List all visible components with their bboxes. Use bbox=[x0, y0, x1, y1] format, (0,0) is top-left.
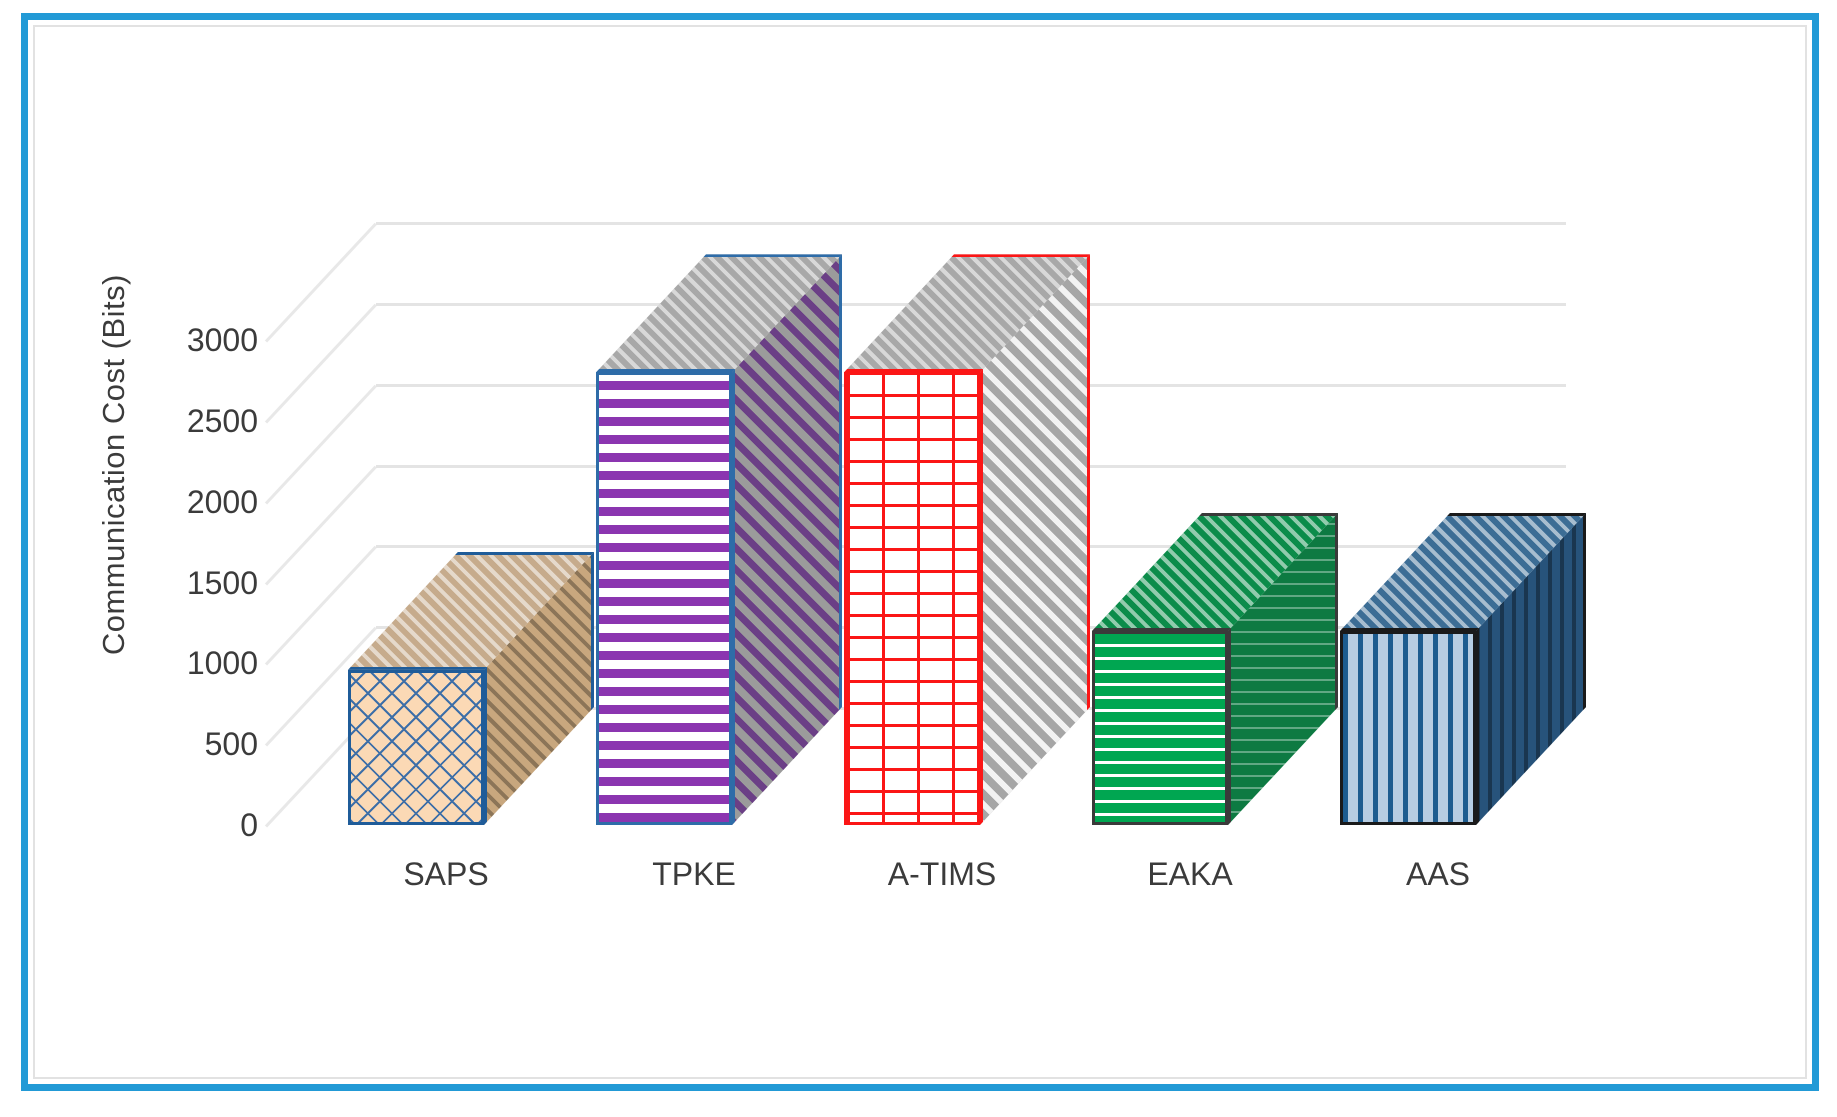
bar-a-tims[interactable] bbox=[844, 372, 980, 825]
y-axis-tick-label: 2000 bbox=[138, 486, 258, 518]
y-axis-title-text: Communication Cost (Bits) bbox=[96, 274, 132, 655]
figure-border-frame: Communication Cost (Bits) 05001000150020… bbox=[21, 13, 1819, 1091]
y-axis-tick-label: 2500 bbox=[138, 405, 258, 437]
bar-eaka[interactable] bbox=[1092, 631, 1228, 825]
bar-front-face bbox=[1340, 631, 1476, 825]
y-axis-tick-label: 0 bbox=[138, 809, 258, 841]
y-axis-tick-label: 1500 bbox=[138, 567, 258, 599]
x-axis-label-tpke: TPKE bbox=[652, 856, 736, 893]
bar-aas[interactable] bbox=[1340, 631, 1476, 825]
y-axis-tick-label: 500 bbox=[138, 728, 258, 760]
y-axis-tick-labels: 050010001500200025003000 bbox=[138, 20, 258, 1098]
bar-series bbox=[266, 170, 1566, 850]
y-axis-tick-label: 3000 bbox=[138, 324, 258, 356]
bar-front-face bbox=[844, 372, 980, 825]
x-axis-label-a-tims: A-TIMS bbox=[888, 856, 996, 893]
x-axis-category-labels: SAPSTPKEA-TIMSEAKAAAS bbox=[266, 856, 1566, 906]
bar-front-face bbox=[348, 670, 484, 825]
bar-chart: Communication Cost (Bits) 05001000150020… bbox=[28, 20, 1826, 1098]
y-axis-tick-label: 1000 bbox=[138, 647, 258, 679]
bar-tpke[interactable] bbox=[596, 372, 732, 825]
x-axis-label-eaka: EAKA bbox=[1147, 856, 1232, 893]
bar-front-face bbox=[1092, 631, 1228, 825]
plot-area bbox=[266, 170, 1566, 850]
x-axis-label-saps: SAPS bbox=[403, 856, 488, 893]
bar-saps[interactable] bbox=[348, 670, 484, 825]
bar-front-face bbox=[596, 372, 732, 825]
y-axis-title: Communication Cost (Bits) bbox=[91, 230, 137, 700]
x-axis-label-aas: AAS bbox=[1406, 856, 1470, 893]
